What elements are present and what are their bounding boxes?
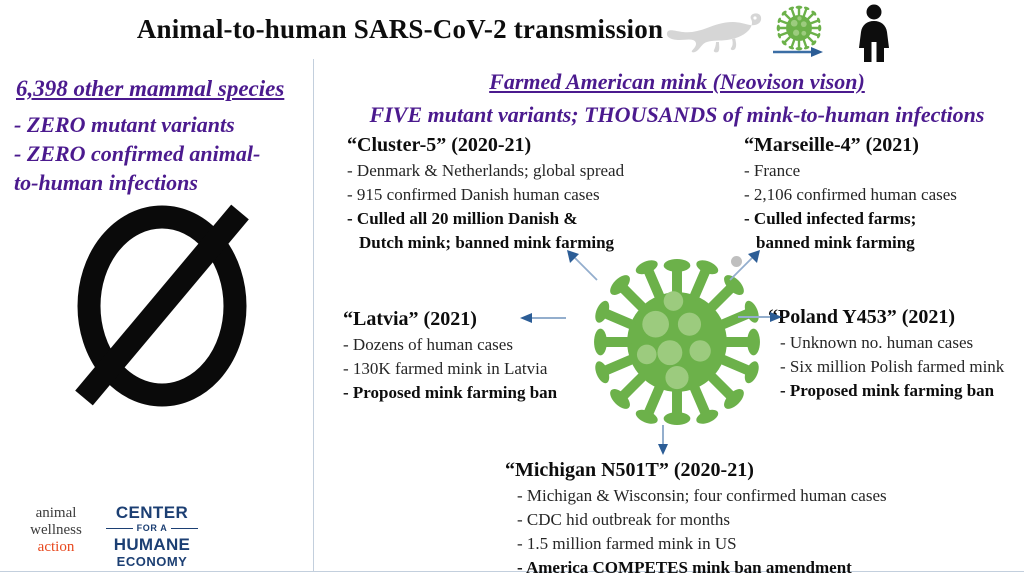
variant-line: - 1.5 million farmed mink in US	[505, 532, 887, 556]
arrow-up-right-icon	[728, 250, 762, 282]
variant-title: “Poland Y453” (2021)	[768, 306, 1004, 329]
left-column-body: - ZERO mutant variants - ZERO confirmed …	[14, 110, 304, 197]
variant-line: - Denmark & Netherlands; global spread	[347, 159, 624, 183]
variant-block-marseille4: “Marseille-4” (2021) - France - 2,106 co…	[744, 134, 957, 255]
awa-line-3: action	[18, 539, 94, 556]
arrow-up-left-icon	[565, 250, 599, 282]
variant-title: “Michigan N501T” (2020-21)	[505, 459, 887, 482]
che-line-4: ECONOMY	[106, 554, 198, 569]
variant-line: - Culled infected farms;	[744, 207, 957, 231]
variant-title: “Cluster-5” (2020-21)	[347, 134, 624, 157]
variant-line: - Proposed mink farming ban	[343, 381, 557, 405]
arrow-down-icon	[657, 425, 669, 455]
variant-line: - 130K farmed mink in Latvia	[343, 357, 557, 381]
variant-block-cluster5: “Cluster-5” (2020-21) - Denmark & Nether…	[347, 134, 624, 255]
variant-line: - Proposed mink farming ban	[768, 379, 1004, 403]
variant-line: - France	[744, 159, 957, 183]
variant-line: - CDC hid outbreak for months	[505, 508, 887, 532]
che-line-3: HUMANE	[106, 535, 198, 554]
variant-block-michigan: “Michigan N501T” (2020-21) - Michigan & …	[505, 459, 887, 580]
header-icon-group	[665, 2, 905, 60]
right-column-heading: Farmed American mink (Neovison vison)	[330, 69, 1024, 95]
variant-line: - Michigan & Wisconsin; four confirmed h…	[505, 484, 887, 508]
left-line: - ZERO mutant variants	[14, 110, 304, 139]
vertical-divider	[313, 59, 314, 571]
variant-line: - America COMPETES mink ban amendment	[505, 556, 887, 580]
arrow-right-icon	[773, 46, 823, 58]
mink-icon	[665, 8, 765, 54]
human-figure-icon	[853, 4, 895, 62]
empty-set-symbol-icon	[62, 198, 262, 410]
awa-line-2: wellness	[18, 522, 94, 539]
che-line-1: CENTER	[106, 503, 198, 522]
arrow-left-icon	[520, 312, 568, 324]
variant-line: - 2,106 confirmed human cases	[744, 183, 957, 207]
arrow-right-icon	[738, 311, 782, 323]
variant-block-poland: “Poland Y453” (2021) - Unknown no. human…	[768, 306, 1004, 403]
variant-line: - 915 confirmed Danish human cases	[347, 183, 624, 207]
left-column-heading: 6,398 other mammal species	[16, 76, 284, 102]
che-line-2-text: FOR A	[137, 522, 168, 535]
right-column-subheading: FIVE mutant variants; THOUSANDS of mink-…	[330, 102, 1024, 128]
virus-icon	[775, 4, 823, 52]
left-line: - ZERO confirmed animal-	[14, 139, 304, 168]
che-line-2: FOR A	[106, 522, 198, 535]
variant-line: banned mink farming	[744, 231, 957, 255]
variant-line: - Six million Polish farmed mink	[768, 355, 1004, 379]
logo-group: animal wellness action CENTER FOR A HUMA…	[18, 503, 198, 565]
awa-line-1: animal	[18, 505, 94, 522]
animal-wellness-action-logo: animal wellness action	[18, 505, 94, 556]
variant-line: - Unknown no. human cases	[768, 331, 1004, 355]
center-for-humane-economy-logo: CENTER FOR A HUMANE ECONOMY	[106, 503, 198, 569]
variant-line: - Dozens of human cases	[343, 333, 557, 357]
variant-title: “Marseille-4” (2021)	[744, 134, 957, 157]
left-line: to-human infections	[14, 168, 304, 197]
variant-line: - Culled all 20 million Danish &	[347, 207, 624, 231]
slide-canvas: Animal-to-human SARS-CoV-2 transmission	[0, 0, 1024, 584]
